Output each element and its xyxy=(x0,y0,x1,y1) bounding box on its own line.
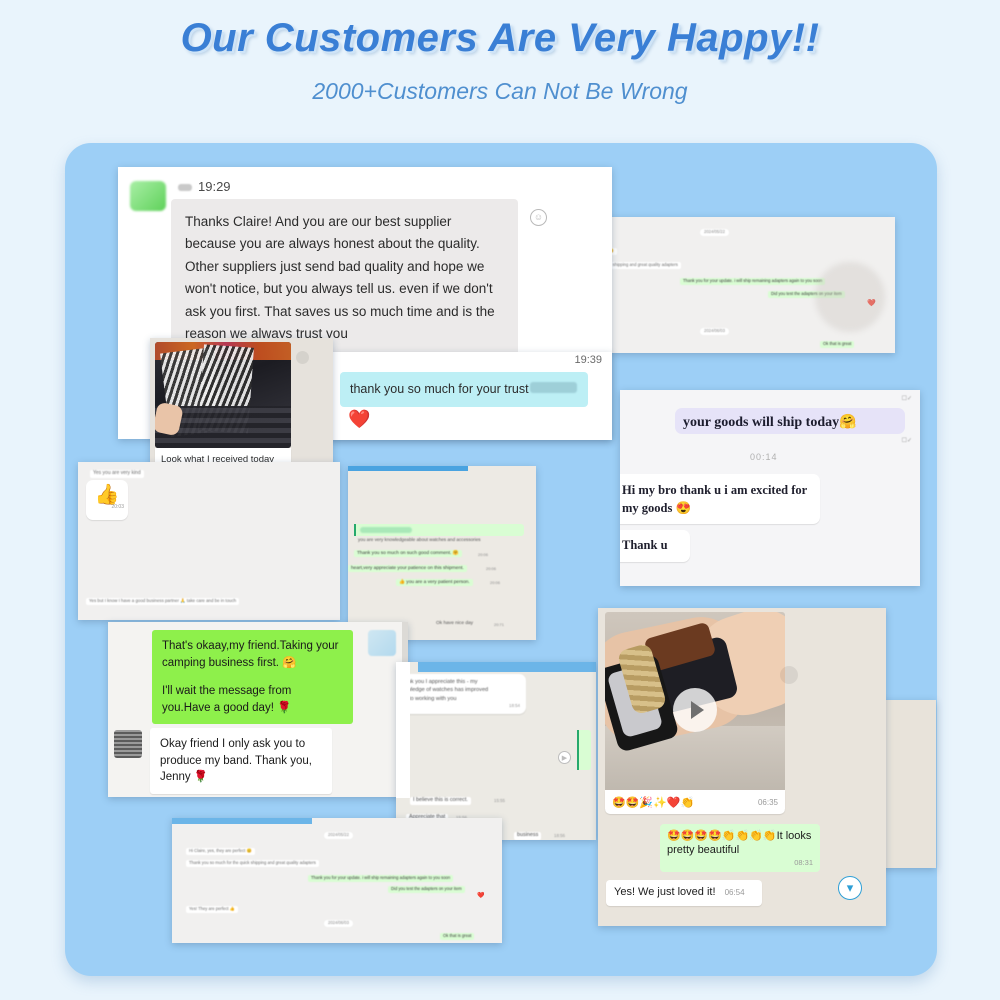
heart-reaction-icon: ❤️ xyxy=(348,409,370,430)
thumbs-up-emoji: 👍 xyxy=(90,484,124,504)
page-title: Our Customers Are Very Happy!! xyxy=(0,16,1000,61)
play-icon[interactable]: ▶ xyxy=(558,751,571,764)
ship-today-screenshot[interactable]: ☐✓ your goods will ship today🤗 ☐✓ 00:14 … xyxy=(620,390,920,586)
knowledge-line: due to working with you xyxy=(398,695,520,703)
correct-time: 15:55 xyxy=(494,799,505,804)
chat-line: Thank you for your update. i will ship r… xyxy=(680,278,825,285)
green-line: camping business first. 🤗 xyxy=(162,655,343,672)
business-time: 18:56 xyxy=(554,834,565,839)
avatar xyxy=(130,181,166,211)
chat-line: Did you test the adapters on your item xyxy=(388,886,465,893)
message-bubble: thank you so much for your trust xyxy=(340,372,588,407)
watermark-blob xyxy=(815,262,885,332)
footer-text: Yes but I know I have a good business pa… xyxy=(86,598,239,605)
message-time: 19:39 xyxy=(574,354,602,366)
knowledge-line: knowledge of watches has improved xyxy=(398,686,520,694)
reply-message-bubble: Hi my bro thank u i am excited for my go… xyxy=(620,474,820,524)
chat-time: 20:06 xyxy=(478,553,488,557)
message-text: Thanks Claire! And you are our best supp… xyxy=(185,214,495,341)
date-chip: 2024/05/22 xyxy=(700,229,729,236)
green-message-bubble: 🤩🤩🤩🤩👏👏👏👏It looks pretty beautiful 08:31 xyxy=(660,824,820,872)
chat-line: Ok that is great xyxy=(440,933,474,940)
message-time: 19:29 xyxy=(198,179,231,194)
watch-knowledge-screenshot[interactable]: Thank you I appreciate this - my knowled… xyxy=(396,662,596,840)
knowledge-line: Thank you I appreciate this - my xyxy=(398,678,520,686)
heart-reaction-icon: ❤️ xyxy=(477,892,484,899)
chat-time: 20:06 xyxy=(490,581,500,585)
window-titlebar xyxy=(418,662,596,672)
wrist-watch-video[interactable] xyxy=(605,612,785,812)
chat-line: you are very knowledgeable about watches… xyxy=(358,537,481,542)
green-line: That's okaay,my friend.Taking your xyxy=(162,638,343,655)
white-message-text: Yes! We just loved it! xyxy=(614,886,716,898)
green-message-bubble: That's okaay,my friend.Taking your campi… xyxy=(152,630,353,724)
sticker-avatar xyxy=(368,630,396,656)
chat-line: Thank you for your update. i will ship r… xyxy=(308,875,453,882)
knowledge-time: 18:54 xyxy=(398,703,520,710)
date-chip: 2024/06/03 xyxy=(700,328,729,335)
page-header: Our Customers Are Very Happy!! 2000+Cust… xyxy=(0,0,1000,130)
sent-message-text: your goods will ship today xyxy=(683,415,839,430)
avatar xyxy=(114,730,142,758)
redacted-name xyxy=(530,382,577,393)
sender-name-redacted xyxy=(178,184,192,191)
chat-time: 20:06 xyxy=(486,567,496,571)
chat-line: Ok that is great xyxy=(820,341,854,348)
green-line: I'll wait the message from xyxy=(162,683,343,700)
thumbs-up-bubble: 👍 20:03 xyxy=(86,480,128,520)
read-receipt-icon: ☐✓ xyxy=(902,396,912,403)
sent-message-bubble: your goods will ship today🤗 xyxy=(675,408,905,434)
chat-time: 20:71 xyxy=(494,623,504,627)
trust-reply-screenshot[interactable]: 19:39 thank you so much for your trust ❤… xyxy=(330,352,612,440)
date-chip: 2024/05/22 xyxy=(324,832,353,839)
window-titlebar xyxy=(172,818,312,824)
white-message-time: 06:54 xyxy=(725,888,745,897)
card-overlap-mask xyxy=(396,662,410,798)
reaction-time: 06:35 xyxy=(758,797,778,808)
date-chip: 2024/06/03 xyxy=(324,920,353,927)
chat-line: Thank you so much on such good comment. … xyxy=(354,550,462,557)
white-line: Okay friend I only ask you to xyxy=(160,736,322,753)
camping-business-screenshot[interactable]: That's okaay,my friend.Taking your campi… xyxy=(108,622,408,797)
chevron-down-icon[interactable]: ▾ xyxy=(838,876,862,900)
reactions-bubble: 🤩🤩🎉✨❤️👏 06:35 xyxy=(605,790,785,814)
green-message-text: 🤩🤩🤩🤩👏👏👏👏It looks pretty beautiful xyxy=(667,830,811,856)
knowledgeable-screenshot[interactable]: you are very knowledgeable about watches… xyxy=(348,466,536,640)
voice-note-bubble xyxy=(577,730,591,770)
reply-message-text: Hi my bro thank u i am excited for my go… xyxy=(622,483,807,515)
white-message-bubble: Okay friend I only ask you to produce my… xyxy=(150,728,332,794)
chat-line: heart,very appreciate your patience on t… xyxy=(348,565,467,572)
reply-message-bubble-2: Thank u xyxy=(620,530,690,562)
chat-line: Hi Claire, yes, they are perfect 😊 xyxy=(186,848,255,855)
chat-line: Thank you so much for the quick shipping… xyxy=(186,860,319,867)
very-kind-screenshot[interactable]: Yes you are very kind 👍 20:03 Yes but I … xyxy=(78,462,340,620)
green-message-time: 08:31 xyxy=(667,858,813,868)
bands-photo[interactable] xyxy=(155,342,291,448)
message-text: thank you so much for your trust xyxy=(350,382,529,396)
chat-line: Yes! They are perfect 👍 xyxy=(186,906,238,913)
reply-message-text-2: Thank u xyxy=(622,538,668,552)
reply-quote-strip xyxy=(354,524,524,536)
divider-time: 00:14 xyxy=(750,452,778,462)
hug-emoji: 🤗 xyxy=(839,414,856,430)
window-titlebar xyxy=(348,466,468,471)
white-message-bubble: Yes! We just loved it! 06:54 xyxy=(606,880,762,906)
knowledge-bubble: Thank you I appreciate this - my knowled… xyxy=(396,674,526,714)
white-line: Jenny 🌹 xyxy=(160,769,322,786)
forward-icon[interactable] xyxy=(296,351,309,364)
kind-text: Yes you are very kind xyxy=(90,470,144,478)
video-review-screenshot[interactable]: 🤩🤩🎉✨❤️👏 06:35 🤩🤩🤩🤩👏👏👏👏It looks pretty be… xyxy=(598,608,886,926)
forward-icon[interactable] xyxy=(780,666,798,684)
green-line: you.Have a good day! 🌹 xyxy=(162,700,343,717)
chat-line: 👍 you are a very patient person. xyxy=(396,579,473,586)
adapters-chat-screenshot-bottom[interactable]: 2024/05/22 Hi Claire, yes, they are perf… xyxy=(172,818,502,943)
white-line: produce my band. Thank you, xyxy=(160,753,322,770)
page-subtitle: 2000+Customers Can Not Be Wrong xyxy=(0,78,1000,105)
correct-line: I believe this is correct. xyxy=(410,797,471,805)
read-receipt-icon: ☐✓ xyxy=(902,438,912,445)
play-icon[interactable] xyxy=(673,688,717,732)
business-line: business xyxy=(514,832,541,840)
reaction-emojis: 🤩🤩🎉✨❤️👏 xyxy=(612,796,694,809)
chat-line: Ok have nice day xyxy=(436,621,473,626)
smiley-reaction-icon[interactable]: ☺ xyxy=(530,209,547,226)
